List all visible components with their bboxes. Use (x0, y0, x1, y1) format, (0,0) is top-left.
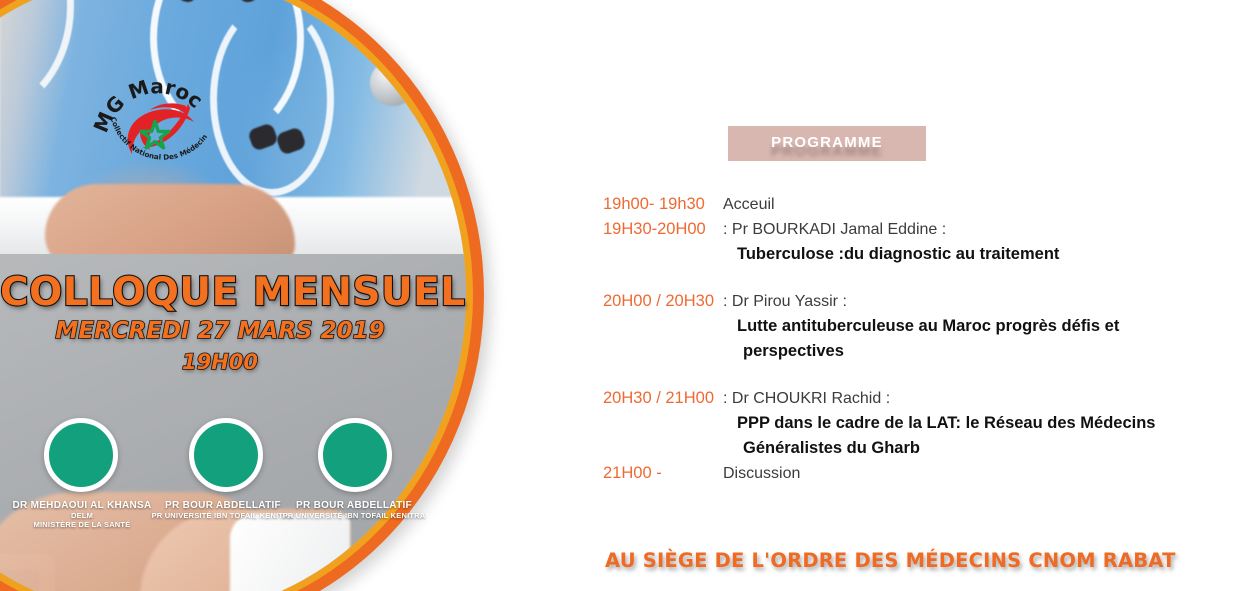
stethoscope-chestpiece-icon (370, 60, 416, 106)
programme-time: 20H30 / 21H00 (603, 386, 723, 411)
speaker-affiliation-line2: MINISTÈRE DE LA SANTÉ (4, 520, 160, 529)
event-poster: MG Maroc Collectif National Des Médecins… (0, 0, 1240, 591)
poster-title: COLLOQUE MENSUEL (0, 270, 440, 315)
programme-text: : Pr BOURKADI Jamal Eddine : (723, 217, 946, 242)
speaker-name: DR MEHDAOUI AL KHANSA (4, 500, 160, 511)
avatar (44, 418, 118, 492)
programme-spacer (603, 267, 1203, 289)
programme-list: 19h00- 19h30Acceuil 19H30-20H00: Pr BOUR… (603, 192, 1203, 486)
programme-row: 19H30-20H00: Pr BOURKADI Jamal Eddine : (603, 217, 1203, 242)
speaker-card: DR MEHDAOUI AL KHANSA DELM MINISTÈRE DE … (4, 418, 160, 530)
programme-time: 20H00 / 20H30 (603, 289, 723, 314)
speaker-affiliation-line1: DELM (4, 511, 160, 520)
stethoscope-tube-icon (0, 0, 74, 118)
venue-text: AU SIÈGE DE L'ORDRE DES MÉDECINS CNOM RA… (605, 549, 1205, 572)
programme-text: : Dr CHOUKRI Rachid : (723, 386, 890, 411)
programme-row: 20H00 / 20H30: Dr Pirou Yassir : (603, 289, 1203, 314)
speakers-row: DR MEHDAOUI AL KHANSA DELM MINISTÈRE DE … (0, 418, 440, 538)
speaker-card: PR BOUR ABDELLATIF PR UNIVERSITÉ IBN TOF… (278, 418, 430, 520)
programme-banner: PROGRAMME PROGRAMME (728, 126, 926, 161)
photo-doctor-scrubs (0, 0, 466, 254)
speaker-affiliation-line1: PR UNIVERSITÉ IBN TOFAIL KENITRA (148, 511, 298, 520)
programme-text: Discussion (723, 461, 800, 486)
programme-text: Acceuil (723, 192, 775, 217)
speaker-affiliation-line1: PR UNIVERSITÉ IBN TOFAIL KENITRA (278, 511, 430, 520)
stethoscope-tube-icon (210, 2, 334, 196)
poster-time: 19H00 (0, 350, 440, 374)
avatar (318, 418, 392, 492)
programme-time: 19h00- 19h30 (603, 192, 723, 217)
programme-time: 19H30-20H00 (603, 217, 723, 242)
programme-row: 21H00 -Discussion (603, 461, 1203, 486)
programme-banner-label: PROGRAMME (728, 134, 926, 151)
mg-maroc-logo: MG Maroc Collectif National Des Médecins… (92, 62, 222, 188)
avatar (189, 418, 263, 492)
programme-row: 19h00- 19h30Acceuil (603, 192, 1203, 217)
programme-topic: PPP dans le cadre de la LAT: le Réseau d… (737, 411, 1203, 436)
poster-date: MERCREDI 27 MARS 2019 (0, 318, 440, 344)
speaker-card: PR BOUR ABDELLATIF PR UNIVERSITÉ IBN TOF… (148, 418, 298, 520)
programme-text: : Dr Pirou Yassir : (723, 289, 847, 314)
programme-time: 21H00 - (603, 461, 723, 486)
programme-spacer (603, 364, 1203, 386)
programme-topic-continued: Généralistes du Gharb (743, 436, 1203, 461)
programme-row: 20H30 / 21H00: Dr CHOUKRI Rachid : (603, 386, 1203, 411)
programme-topic: Lutte antituberculeuse au Maroc progrès … (737, 314, 1203, 339)
speaker-name: PR BOUR ABDELLATIF (278, 500, 430, 511)
speaker-name: PR BOUR ABDELLATIF (148, 500, 298, 511)
programme-topic-continued: perspectives (743, 339, 1203, 364)
programme-topic: Tuberculose :du diagnostic au traitement (737, 242, 1203, 267)
